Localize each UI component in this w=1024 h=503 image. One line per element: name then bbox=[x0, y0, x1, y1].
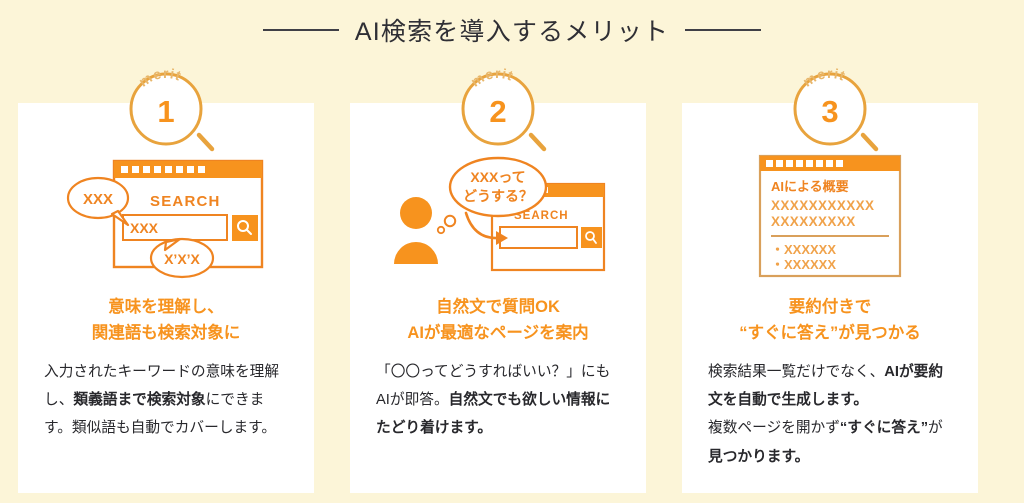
card-body: 検索結果一覧だけでなく、AIが要約 文を自動で生成します。 複数ページを開かず“… bbox=[708, 358, 956, 471]
merit-card-1[interactable]: merit 1 SEARCH bbox=[18, 103, 314, 493]
card-heading: 要約付きで “すぐに答え”が見つかる bbox=[682, 295, 978, 346]
title-rule-right bbox=[685, 29, 761, 31]
card-body-line: たどり着けます。 bbox=[376, 414, 624, 442]
panel-bullet-2: ・XXXXXX bbox=[771, 257, 836, 272]
merit-card-2[interactable]: merit 2 SEARCH bbox=[350, 103, 646, 493]
panel-bullet-1: ・XXXXXX bbox=[771, 242, 836, 257]
badge-number: 2 bbox=[489, 94, 506, 129]
badge-number: 1 bbox=[157, 94, 174, 129]
thought-line-1: XXXって bbox=[470, 169, 525, 185]
card-heading-line-1: 意味を理解し、 bbox=[18, 295, 314, 321]
card-body-line: 入力されたキーワードの意味を理解 bbox=[44, 358, 292, 386]
card-heading-line-1: 要約付きで bbox=[682, 295, 978, 321]
card-heading-line-1: 自然文で質問OK bbox=[350, 295, 646, 321]
card-heading-line-2: AIが最適なページを案内 bbox=[350, 321, 646, 347]
thought-line-2: どうする？ bbox=[463, 188, 533, 204]
panel-line-1: XXXXXXXXXXX bbox=[771, 198, 874, 213]
card-body: 「〇〇ってどうすればいい？」にも AIが即答。自然文でも欲しい情報に たどり着け… bbox=[376, 358, 624, 443]
bubble-text-2: X’X’X bbox=[164, 251, 200, 267]
ai-summary-panel-illustration: AIによる概要 XXXXXXXXXXX XXXXXXXXX ・XXXXXX ・X… bbox=[682, 141, 978, 291]
browser-search-illustration: SEARCH XXX XXX bbox=[18, 141, 314, 291]
card-body-line: 見つかります。 bbox=[708, 443, 956, 471]
card-body-line: 検索結果一覧だけでなく、AIが要約 bbox=[708, 358, 956, 386]
card-body-line: AIが即答。自然文でも欲しい情報に bbox=[376, 386, 624, 414]
card-body-line: 「〇〇ってどうすればいい？」にも bbox=[376, 358, 624, 386]
bubble-text-1: XXX bbox=[83, 191, 113, 208]
card-body: 入力されたキーワードの意味を理解 し、類義語まで検索対象にできま す。類似語も自… bbox=[44, 358, 292, 443]
search-input-value: XXX bbox=[130, 220, 159, 236]
merit-card-3[interactable]: merit 3 AIによる概要 XXXXXXXXXXX bbox=[682, 103, 978, 493]
card-heading-line-2: 関連語も検索対象に bbox=[18, 321, 314, 347]
page-root: AI検索を導入するメリット merit 1 bbox=[0, 0, 1024, 503]
card-heading: 意味を理解し、 関連語も検索対象に bbox=[18, 295, 314, 346]
search-label: SEARCH bbox=[150, 193, 221, 210]
page-title-row: AI検索を導入するメリット bbox=[0, 12, 1024, 48]
person-icon bbox=[394, 197, 438, 264]
card-heading: 自然文で質問OK AIが最適なページを案内 bbox=[350, 295, 646, 346]
card-body-line: す。類似語も自動でカバーします。 bbox=[44, 414, 292, 442]
person-question-search-illustration: SEARCH XXXって bbox=[350, 141, 646, 291]
card-body-line: 文を自動で生成します。 bbox=[708, 386, 956, 414]
badge-number: 3 bbox=[821, 94, 838, 129]
card-heading-line-2: “すぐに答え”が見つかる bbox=[682, 321, 978, 347]
page-title: AI検索を導入するメリット bbox=[355, 12, 669, 48]
panel-line-2: XXXXXXXXX bbox=[771, 214, 856, 229]
card-body-line: 複数ページを開かず“すぐに答え”が bbox=[708, 414, 956, 442]
title-rule-left bbox=[263, 29, 339, 31]
panel-title: AIによる概要 bbox=[771, 179, 849, 194]
card-body-line: し、類義語まで検索対象にできま bbox=[44, 386, 292, 414]
merit-card-list: merit 1 SEARCH bbox=[18, 103, 1006, 493]
